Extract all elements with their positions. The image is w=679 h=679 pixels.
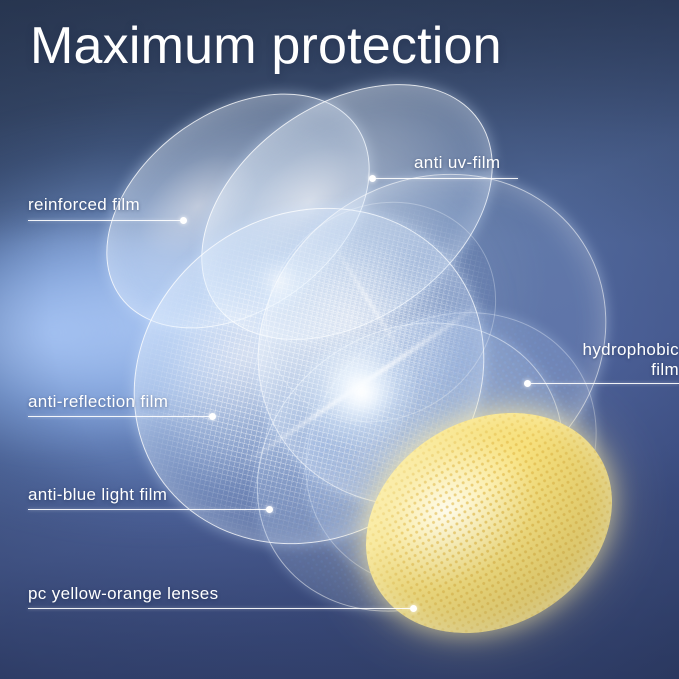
callout-dot-anti-blue-light-film bbox=[266, 506, 273, 513]
callout-label-hydrophobic-line2: film bbox=[391, 360, 679, 380]
callout-leader-anti-blue-light-film bbox=[28, 509, 272, 510]
callout-dot-anti-uv-film bbox=[369, 175, 376, 182]
callout-leader-reinforced-film bbox=[28, 220, 186, 221]
callout-dot-pc-yellow-orange-lenses bbox=[410, 605, 417, 612]
callout-label-hydrophobic-line1: hydrophobic bbox=[391, 340, 679, 360]
callout-label-anti-uv-film: anti uv-film bbox=[414, 153, 500, 173]
callout-dot-anti-reflection-film bbox=[209, 413, 216, 420]
callout-leader-anti-reflection-film bbox=[28, 416, 215, 417]
callout-leader-anti-uv-film bbox=[376, 178, 518, 179]
infographic-canvas: Maximum protection reinforced film anti … bbox=[0, 0, 679, 679]
callout-label-hydrophobic-film: hydrophobic film bbox=[391, 340, 679, 380]
callout-label-anti-reflection-film: anti-reflection film bbox=[28, 392, 168, 412]
callout-label-pc-yellow-orange-lenses: pc yellow-orange lenses bbox=[28, 584, 218, 604]
callout-dot-hydrophobic-film bbox=[524, 380, 531, 387]
callout-leader-pc-yellow-orange-lenses bbox=[28, 608, 416, 609]
callout-leader-hydrophobic-film bbox=[531, 383, 679, 384]
page-title: Maximum protection bbox=[30, 16, 502, 76]
callout-label-anti-blue-light-film: anti-blue light film bbox=[28, 485, 167, 505]
callout-dot-reinforced-film bbox=[180, 217, 187, 224]
callout-label-reinforced-film: reinforced film bbox=[28, 195, 140, 215]
